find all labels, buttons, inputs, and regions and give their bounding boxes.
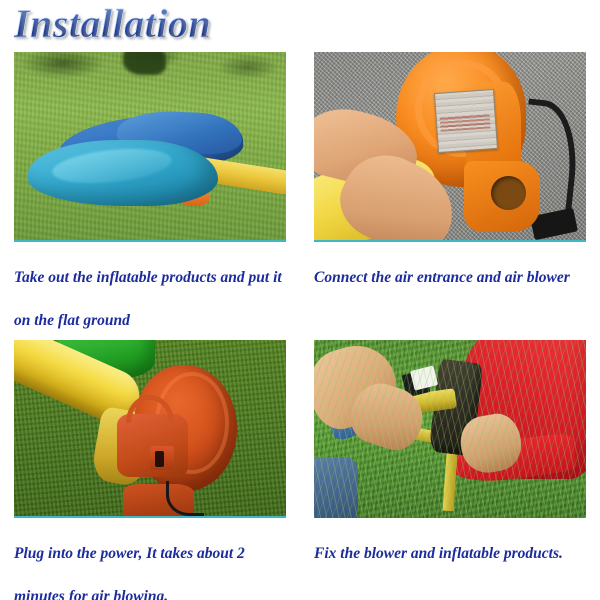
step-4-photo (314, 340, 586, 518)
grass-background (314, 340, 586, 518)
blower-foot-hole (491, 176, 526, 210)
blower-spec-label (434, 89, 498, 153)
step-3-photo (14, 340, 286, 518)
concrete-background (314, 52, 586, 240)
step-3: Plug into the power, It takes about 2 mi… (0, 340, 300, 600)
page-title: Installation (14, 2, 211, 46)
step-1-photo (14, 52, 286, 242)
step-1: Take out the inflatable products and put… (0, 52, 300, 340)
step-1-caption: Take out the inflatable products and put… (14, 256, 294, 342)
grass-blades-overlay (314, 340, 586, 518)
shadow-patch (123, 52, 167, 75)
blower-switch-button (155, 451, 163, 467)
step-4: Fix the blower and inflatable products. (300, 340, 600, 600)
grass-background (14, 52, 286, 240)
step-2: Connect the air entrance and air blower (300, 52, 600, 340)
step-3-caption: Plug into the power, It takes about 2 mi… (14, 532, 294, 600)
step-2-caption: Connect the air entrance and air blower (314, 256, 594, 299)
step-4-caption: Fix the blower and inflatable products. (314, 532, 594, 575)
installation-steps-grid: Take out the inflatable products and put… (0, 52, 600, 600)
grass-background (14, 340, 286, 516)
step-2-photo (314, 52, 586, 242)
